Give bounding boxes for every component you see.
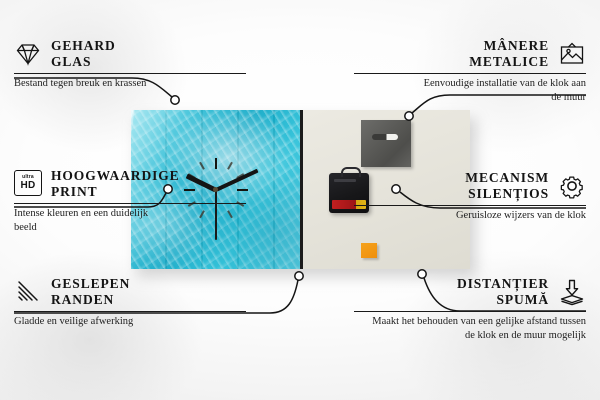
callout-description: Gladde en veilige afwerking [14, 315, 246, 329]
callout-distantier-spuma: DISTANȚIER SPUMĂ Maakt het behouden van … [354, 276, 586, 343]
callout-title: MECANISM SILENȚIOS [465, 170, 549, 202]
callout-title-line2: METALICE [469, 54, 549, 70]
callout-title-line1: GEHARD [51, 38, 116, 54]
callout-rule [14, 73, 246, 74]
callout-rule [354, 311, 586, 312]
mechanism-label [334, 179, 356, 182]
callout-title-line1: DISTANȚIER [457, 276, 549, 292]
callout-title-line1: HOOGWAARDIGE [51, 168, 180, 184]
callout-title: GESLEPEN RANDEN [51, 276, 130, 308]
callout-title-line2: SPUMĂ [457, 292, 549, 308]
callout-description: Bestand tegen breuk en krassen [14, 77, 154, 91]
foam-spacer-icon [558, 278, 586, 306]
callout-description: Maakt het behouden van een gelijke afsta… [360, 315, 586, 343]
callout-title-line2: RANDEN [51, 292, 130, 308]
callout-rule [354, 205, 586, 206]
callout-title-line1: MECANISM [465, 170, 549, 186]
metal-hanger-plate [361, 120, 411, 167]
callout-rule [354, 73, 586, 74]
callout-hoogwaardige-print: ultra HD HOOGWAARDIGE PRINT Intense kleu… [14, 168, 246, 235]
callout-title-line1: MÂNERE [469, 38, 549, 54]
ultra-hd-icon-large-text: HD [20, 181, 35, 191]
callout-rule [14, 203, 246, 204]
callout-description: Eenvoudige installatie van de klok aan d… [418, 77, 586, 105]
foam-spacer [361, 243, 377, 258]
callout-title-line2: PRINT [51, 184, 180, 200]
callout-title-line2: GLAS [51, 54, 116, 70]
hanger-slot [372, 134, 398, 140]
diamond-icon [14, 40, 42, 68]
infographic-canvas: GEHARD GLAS Bestand tegen breuk en krass… [0, 0, 600, 400]
callout-gehard-glas: GEHARD GLAS Bestand tegen breuk en krass… [14, 38, 246, 91]
callout-rule [14, 311, 246, 312]
ultra-hd-icon: ultra HD [14, 170, 42, 198]
picture-hanger-icon [558, 40, 586, 68]
callout-title: DISTANȚIER SPUMĂ [457, 276, 549, 308]
callout-title: GEHARD GLAS [51, 38, 116, 70]
callout-title: HOOGWAARDIGE PRINT [51, 168, 180, 200]
gear-icon [558, 172, 586, 200]
callout-title-line2: SILENȚIOS [465, 186, 549, 202]
callout-manere-metalice: MÂNERE METALICE Eenvoudige installatie v… [354, 38, 586, 105]
callout-title-line1: GESLEPEN [51, 276, 130, 292]
callout-geslepen-randen: GESLEPEN RANDEN Gladde en veilige afwerk… [14, 276, 246, 329]
callout-description: Geruisloze wijzers van de klok [434, 209, 586, 223]
polished-edges-icon [14, 278, 42, 306]
callout-title: MÂNERE METALICE [469, 38, 549, 70]
callout-mecanism-silentios: MECANISM SILENȚIOS Geruisloze wijzers va… [354, 170, 586, 223]
callout-description: Intense kleuren en een duidelijk beeld [14, 207, 149, 235]
